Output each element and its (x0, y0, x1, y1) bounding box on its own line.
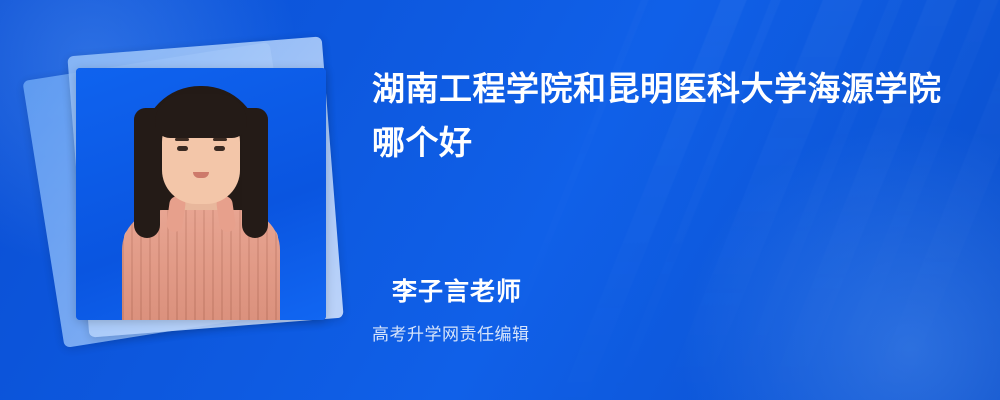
headline-block: 湖南工程学院和昆明医科大学海源学院哪个好 (372, 62, 972, 170)
author-role: 高考升学网责任编辑 (372, 320, 530, 345)
author-name: 李子言老师 (392, 272, 522, 308)
portrait-photo (76, 68, 326, 320)
portrait-illustration (76, 68, 326, 320)
photo-stack (36, 30, 356, 370)
article-banner: 湖南工程学院和昆明医科大学海源学院哪个好 李子言老师 高考升学网责任编辑 (0, 0, 1000, 400)
page-title: 湖南工程学院和昆明医科大学海源学院哪个好 (372, 62, 950, 170)
